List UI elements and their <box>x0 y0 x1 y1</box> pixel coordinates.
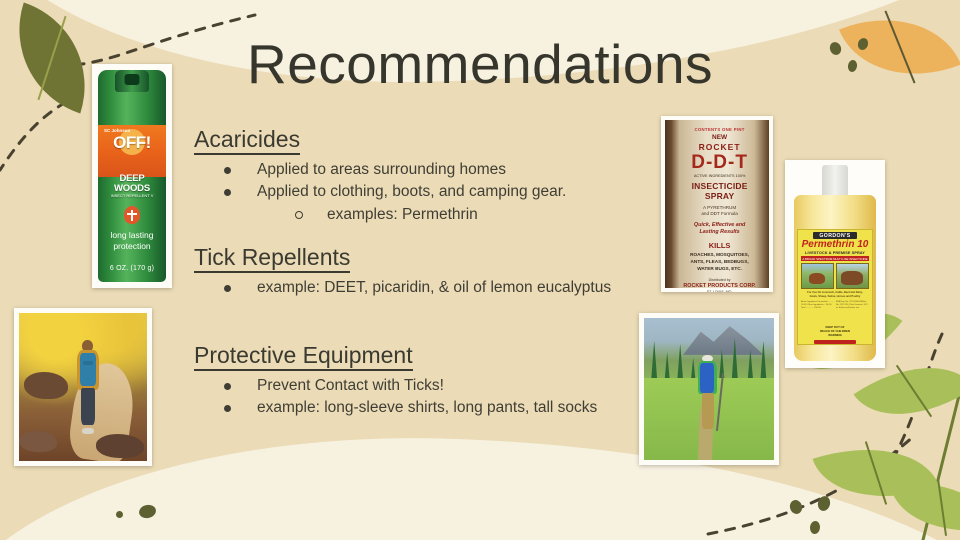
formula-line-1: A PYRETHRUM <box>703 205 736 210</box>
pests-line-2: ANTS, FLEAS, BEDBUGS, <box>691 259 749 264</box>
section-heading: Protective Equipment <box>194 343 413 371</box>
permethrin-strip-text: A BROAD SPECTRUM MULTI-USE INSECTICIDE <box>801 256 869 261</box>
image-hiker-autumn-trail <box>14 308 152 466</box>
image-permethrin-bottle: GORDON'S Permethrin 10 LIVESTOCK & PREMI… <box>785 160 885 368</box>
formula-line-2: and DDT Formula <box>701 211 737 216</box>
hiker-backpack <box>700 363 715 393</box>
list-item: Applied to clothing, boots, and camping … <box>224 182 664 225</box>
rock <box>24 372 68 399</box>
ddt-contents-text: CONTENTS ONE PINT <box>680 127 760 132</box>
claim-line-1: long lasting <box>110 230 153 240</box>
claim-line-1: Quick, Effective and <box>694 222 745 228</box>
ddt-pests-text: ROACHES, MOSQUITOES, ANTS, FLEAS, BEDBUG… <box>680 252 760 272</box>
net-weight-text: 6 OZ. (170 g) <box>98 265 166 272</box>
section-acaricides: Acaricides Applied to areas surrounding … <box>194 127 664 228</box>
permethrin-warning-text: KEEP OUT OF REACH OF CHILDREN WARNING <box>798 326 872 338</box>
permethrin-label: GORDON'S Permethrin 10 LIVESTOCK & PREMI… <box>797 229 873 345</box>
ddt-label: CONTENTS ONE PINT NEW ROCKET D-D-T ACTIV… <box>680 125 760 285</box>
tick-symbol-icon <box>124 206 140 224</box>
dashed-path-left-lower <box>0 96 74 176</box>
accent-dot <box>809 521 820 535</box>
sub-bullet-list: examples: Permethrin <box>257 205 664 226</box>
ddt-city-text: ST. LOUIS, MO. <box>680 290 760 292</box>
pests-line-1: ROACHES, MOSQUITOES, <box>690 252 749 257</box>
ddt-active-ingredients-text: ACTIVE INGREDIENTS 100% <box>680 174 760 178</box>
ddt-company-text: ROCKET PRODUCTS CORP. <box>680 283 760 289</box>
hiker-figure <box>696 355 719 437</box>
claim-line-2: Lasting Results <box>700 229 740 235</box>
ddt-product-text: D-D-T <box>680 153 760 172</box>
hiker-legs <box>81 388 94 425</box>
ddt-rocket-text: ROCKET <box>680 142 760 152</box>
section-protective-equipment: Protective Equipment Prevent Contact wit… <box>194 343 674 421</box>
warning-line-3: WARNING <box>828 333 842 337</box>
section-heading: Acaricides <box>194 127 300 155</box>
permethrin-subtitle-text: LIVESTOCK & PREMISE SPRAY <box>798 251 872 255</box>
rock <box>96 434 145 458</box>
autumn-trail-scene <box>19 313 147 461</box>
ddt-kills-text: KILLS <box>680 241 760 250</box>
bullet-list: Prevent Contact with Ticks! example: lon… <box>194 376 674 418</box>
can-nozzle <box>125 74 140 85</box>
usage-line-1: For Use On Livestock, Cattle, Beef and D… <box>807 291 862 294</box>
hiker-boots <box>82 428 94 434</box>
pests-line-3: WATER BUGS, ETC. <box>697 266 742 271</box>
list-item: example: DEET, picaridin, & oil of lemon… <box>224 278 674 298</box>
branch-stem <box>919 336 960 540</box>
bullet-text: Prevent Contact with Ticks! <box>257 377 444 394</box>
usage-line-2: Goats, Sheep, Swine, Horses and Poultry <box>810 295 861 298</box>
green-leaf-icon <box>813 424 940 521</box>
label-photos <box>801 263 869 289</box>
ddt-type-text: INSECTICIDE SPRAY <box>680 181 760 201</box>
bullet-text: Applied to areas surrounding homes <box>257 161 506 178</box>
accent-dot <box>816 495 831 512</box>
hiker-figure <box>75 340 101 432</box>
bottle-graphic: GORDON'S Permethrin 10 LIVESTOCK & PREMI… <box>790 165 880 363</box>
label-detail-columns: Active Ingredient: Permethrin ........ 1… <box>801 301 869 310</box>
bullet-text: example: DEET, picaridin, & oil of lemon… <box>257 279 611 296</box>
sc-johnson-text: SC Johnson <box>104 128 130 133</box>
list-item: example: long-sleeve shirts, long pants,… <box>224 398 674 418</box>
claim-line-2: protection <box>113 241 150 251</box>
list-item: Applied to areas surrounding homes <box>224 160 664 180</box>
ddt-claim-text: Quick, Effective and Lasting Results <box>680 222 760 236</box>
image-hiker-mountain-meadow <box>639 313 779 465</box>
label-bottom-bar <box>814 340 855 344</box>
ddt-can-graphic: CONTENTS ONE PINT NEW ROCKET D-D-T ACTIV… <box>665 120 769 288</box>
ddt-formula-text: A PYRETHRUM and DDT Formula <box>680 205 760 217</box>
claim-text: long lasting protection <box>98 230 166 251</box>
sub-list-item: examples: Permethrin <box>295 205 664 226</box>
bullet-text: example: long-sleeve shirts, long pants,… <box>257 399 597 416</box>
accent-dot <box>788 499 803 516</box>
ddt-new-text: NEW <box>680 134 760 141</box>
hiker-legs <box>702 393 714 429</box>
registration-column: EPA Reg. No. 2217-836 EPA Est. No. 2217-… <box>836 301 869 310</box>
image-off-deep-woods-can: OFF! SC Johnson DEEP WOODS INSECT REPELL… <box>92 64 172 288</box>
bottle-neck <box>822 165 848 199</box>
meadow-trail-scene <box>644 318 774 460</box>
image-ddt-insecticide-can: CONTENTS ONE PINT NEW ROCKET D-D-T ACTIV… <box>661 116 773 292</box>
bullet-list: Applied to areas surrounding homes Appli… <box>194 160 664 225</box>
off-brand-text: OFF! <box>98 133 166 153</box>
trademark-text: INSECT REPELLENT V <box>98 194 166 198</box>
permethrin-usage-text: For Use On Livestock, Cattle, Beef and D… <box>801 291 869 299</box>
spray-can-graphic: OFF! SC Johnson DEEP WOODS INSECT REPELL… <box>98 70 166 282</box>
rock <box>19 431 57 452</box>
green-leaf-icon <box>890 472 960 540</box>
horse-photo <box>801 263 834 289</box>
accent-dot <box>138 503 157 519</box>
gordons-brand-text: GORDON'S <box>813 232 857 239</box>
list-item: Prevent Contact with Ticks! <box>224 376 674 396</box>
deep-woods-text: DEEP WOODS INSECT REPELLENT V <box>98 174 166 198</box>
hiker-backpack <box>80 353 96 386</box>
bullet-list: example: DEET, picaridin, & oil of lemon… <box>194 278 674 298</box>
sub-bullet-text: examples: Permethrin <box>327 206 478 223</box>
cattle-photo <box>836 263 869 289</box>
accent-dot <box>116 511 123 518</box>
dashed-path-right-edge <box>880 330 960 480</box>
ingredients-column: Active Ingredient: Permethrin ........ 1… <box>801 301 834 310</box>
permethrin-product-text: Permethrin 10 <box>798 240 872 251</box>
bullet-text: Applied to clothing, boots, and camping … <box>257 183 566 200</box>
section-heading: Tick Repellents <box>194 245 350 273</box>
slide: Recommendations Acaricides Applied to ar… <box>0 0 960 540</box>
section-tick-repellents: Tick Repellents example: DEET, picaridin… <box>194 245 674 300</box>
ddt-distributed-text: Distributed by <box>680 278 760 282</box>
